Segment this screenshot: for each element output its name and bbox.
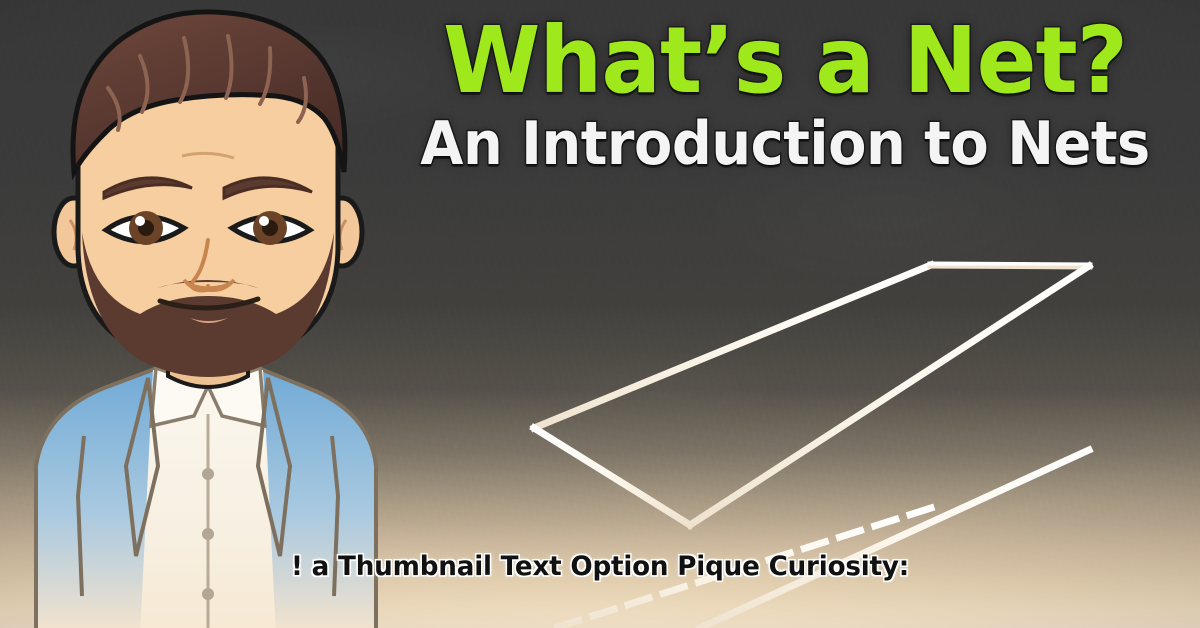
chalkboard-background [0, 0, 1200, 628]
thumbnail-caption: ! a Thumbnail Text Option Pique Curiosit… [18, 551, 1182, 582]
thumbnail-canvas: What’s a Net? An Introduction to Nets [0, 0, 1200, 628]
